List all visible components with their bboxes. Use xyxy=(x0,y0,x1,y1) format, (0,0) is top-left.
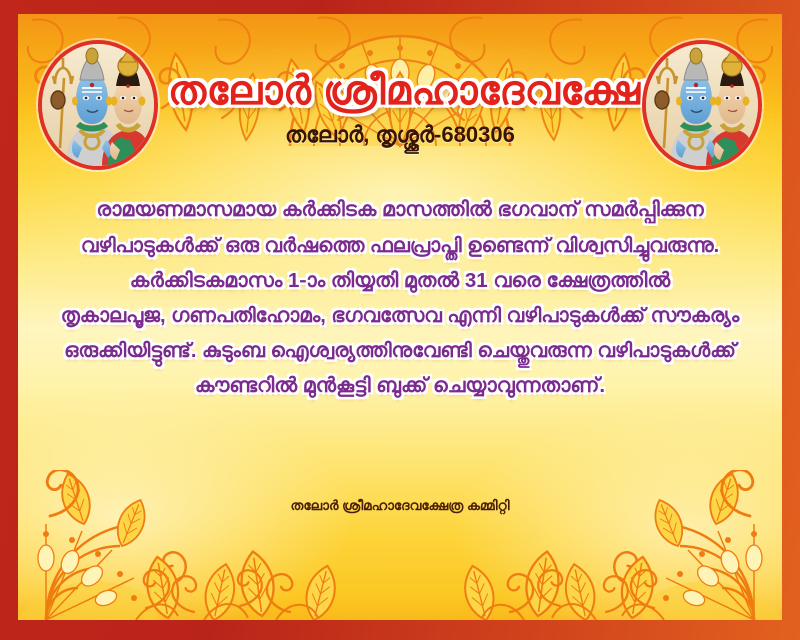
committee-signature: തലോർ ശ്രീമഹാദേവക്ഷേത്ര കമ്മിറ്റി xyxy=(18,498,782,514)
body-line-1: രാമയണമാസമായ കർക്കിടക മാസത്തിൽ ഭഗവാന് സമർ… xyxy=(44,200,756,221)
shiva-parvati-portrait-right xyxy=(642,40,762,170)
body-line-3: കർക്കിടകമാസം 1-ാം തിയ്യതി മുതൽ 31 വരെ ക്… xyxy=(44,271,756,292)
page-title: തലോർ ശ്രീമഹാദേവക്ഷേത്രം xyxy=(168,70,632,112)
body-line-6: കൗണ്ടറിൽ മുൻകൂട്ടി ബുക്ക് ചെയ്യാവുന്നതാണ… xyxy=(44,376,756,397)
shiva-parvati-portrait-left xyxy=(38,40,158,170)
poster-header: തലോർ ശ്രീമഹാദേവക്ഷേത്രം തലോർ, തൃശ്ശൂർ-68… xyxy=(18,14,782,174)
poster-card: തലോർ ശ്രീമഹാദേവക്ഷേത്രം തലോർ, തൃശ്ശൂർ-68… xyxy=(18,14,782,620)
body-line-2: വഴിപാടുകൾക്ക് ഒരു വർഷത്തെ ഫലപ്രാപ്തി ഉണ്… xyxy=(44,236,756,256)
title-block: തലോർ ശ്രീമഹാദേവക്ഷേത്രം തലോർ, തൃശ്ശൂർ-68… xyxy=(168,70,632,148)
temple-announcement-poster: തലോർ ശ്രീമഹാദേവക്ഷേത്രം തലോർ, തൃശ്ശൂർ-68… xyxy=(0,0,800,640)
page-subtitle: തലോർ, തൃശ്ശൂർ-680306 xyxy=(168,122,632,148)
announcement-body: രാമയണമാസമായ കർക്കിടക മാസത്തിൽ ഭഗവാന് സമർ… xyxy=(44,200,756,412)
body-line-4: തൃകാലപൂജ, ഗണപതിഹോമം, ഭഗവത്സേവ എന്നി വഴിപ… xyxy=(44,306,756,326)
body-line-5: ഒരുക്കിയിട്ടുണ്ട്. കുടുംബ ഐശ്വര്യത്തിനുവ… xyxy=(44,341,756,361)
